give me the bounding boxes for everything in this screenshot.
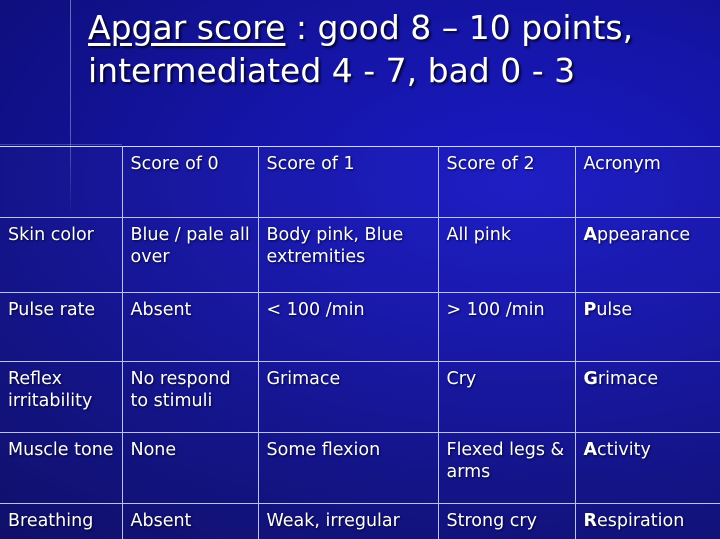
table-row: Reflex irritability No respond to stimul… xyxy=(0,362,720,433)
acronym-initial: A xyxy=(584,225,598,245)
cell-muscle-tone-acronym: Activity xyxy=(575,433,720,504)
cell-pulse-rate-acronym: Pulse xyxy=(575,293,720,362)
cell-muscle-tone-score-1: Some flexion xyxy=(258,433,438,504)
table-row: Pulse rate Absent < 100 /min > 100 /min … xyxy=(0,293,720,362)
table-row: Muscle tone None Some flexion Flexed leg… xyxy=(0,433,720,504)
table-row: Skin color Blue / pale all over Body pin… xyxy=(0,218,720,293)
cell-reflex-irritability-score-0: No respond to stimuli xyxy=(122,362,258,433)
cell-muscle-tone-score-2: Flexed legs & arms xyxy=(438,433,575,504)
cell-breathing-score-1: Weak, irregular xyxy=(258,504,438,539)
cell-breathing-acronym: Respiration xyxy=(575,504,720,539)
page-title-underlined-term: Apgar score xyxy=(88,8,285,47)
row-label-reflex-irritability: Reflex irritability xyxy=(0,362,122,433)
acronym-rest: ulse xyxy=(596,300,632,320)
slide-accent-line-horizontal xyxy=(0,144,122,145)
row-label-muscle-tone: Muscle tone xyxy=(0,433,122,504)
cell-skin-color-score-2: All pink xyxy=(438,218,575,293)
row-label-breathing: Breathing xyxy=(0,504,122,539)
acronym-initial: G xyxy=(584,369,598,389)
cell-skin-color-score-0: Blue / pale all over xyxy=(122,218,258,293)
cell-pulse-rate-score-2: > 100 /min xyxy=(438,293,575,362)
acronym-rest: ctivity xyxy=(597,440,651,460)
cell-pulse-rate-score-0: Absent xyxy=(122,293,258,362)
cell-skin-color-acronym: Appearance xyxy=(575,218,720,293)
acronym-rest: espiration xyxy=(597,511,684,531)
table-row: Breathing Absent Weak, irregular Strong … xyxy=(0,504,720,539)
acronym-rest: ppearance xyxy=(597,225,690,245)
acronym-rest: rimace xyxy=(598,369,658,389)
apgar-score-table: Score of 0 Score of 1 Score of 2 Acronym… xyxy=(0,146,720,539)
header-cell-score-0: Score of 0 xyxy=(122,147,258,218)
acronym-initial: R xyxy=(584,511,597,531)
cell-breathing-score-2: Strong cry xyxy=(438,504,575,539)
header-cell-score-1: Score of 1 xyxy=(258,147,438,218)
cell-skin-color-score-1: Body pink, Blue extremities xyxy=(258,218,438,293)
acronym-initial: A xyxy=(584,440,598,460)
cell-reflex-irritability-score-2: Cry xyxy=(438,362,575,433)
acronym-initial: P xyxy=(584,300,597,320)
page-title: Apgar score : good 8 – 10 points, interm… xyxy=(88,6,688,92)
header-cell-score-2: Score of 2 xyxy=(438,147,575,218)
cell-reflex-irritability-score-1: Grimace xyxy=(258,362,438,433)
cell-reflex-irritability-acronym: Grimace xyxy=(575,362,720,433)
row-label-pulse-rate: Pulse rate xyxy=(0,293,122,362)
header-cell-blank xyxy=(0,147,122,218)
cell-breathing-score-0: Absent xyxy=(122,504,258,539)
cell-muscle-tone-score-0: None xyxy=(122,433,258,504)
row-label-skin-color: Skin color xyxy=(0,218,122,293)
header-cell-acronym: Acronym xyxy=(575,147,720,218)
presentation-slide: Apgar score : good 8 – 10 points, interm… xyxy=(0,0,720,539)
table-header-row: Score of 0 Score of 1 Score of 2 Acronym xyxy=(0,147,720,218)
cell-pulse-rate-score-1: < 100 /min xyxy=(258,293,438,362)
